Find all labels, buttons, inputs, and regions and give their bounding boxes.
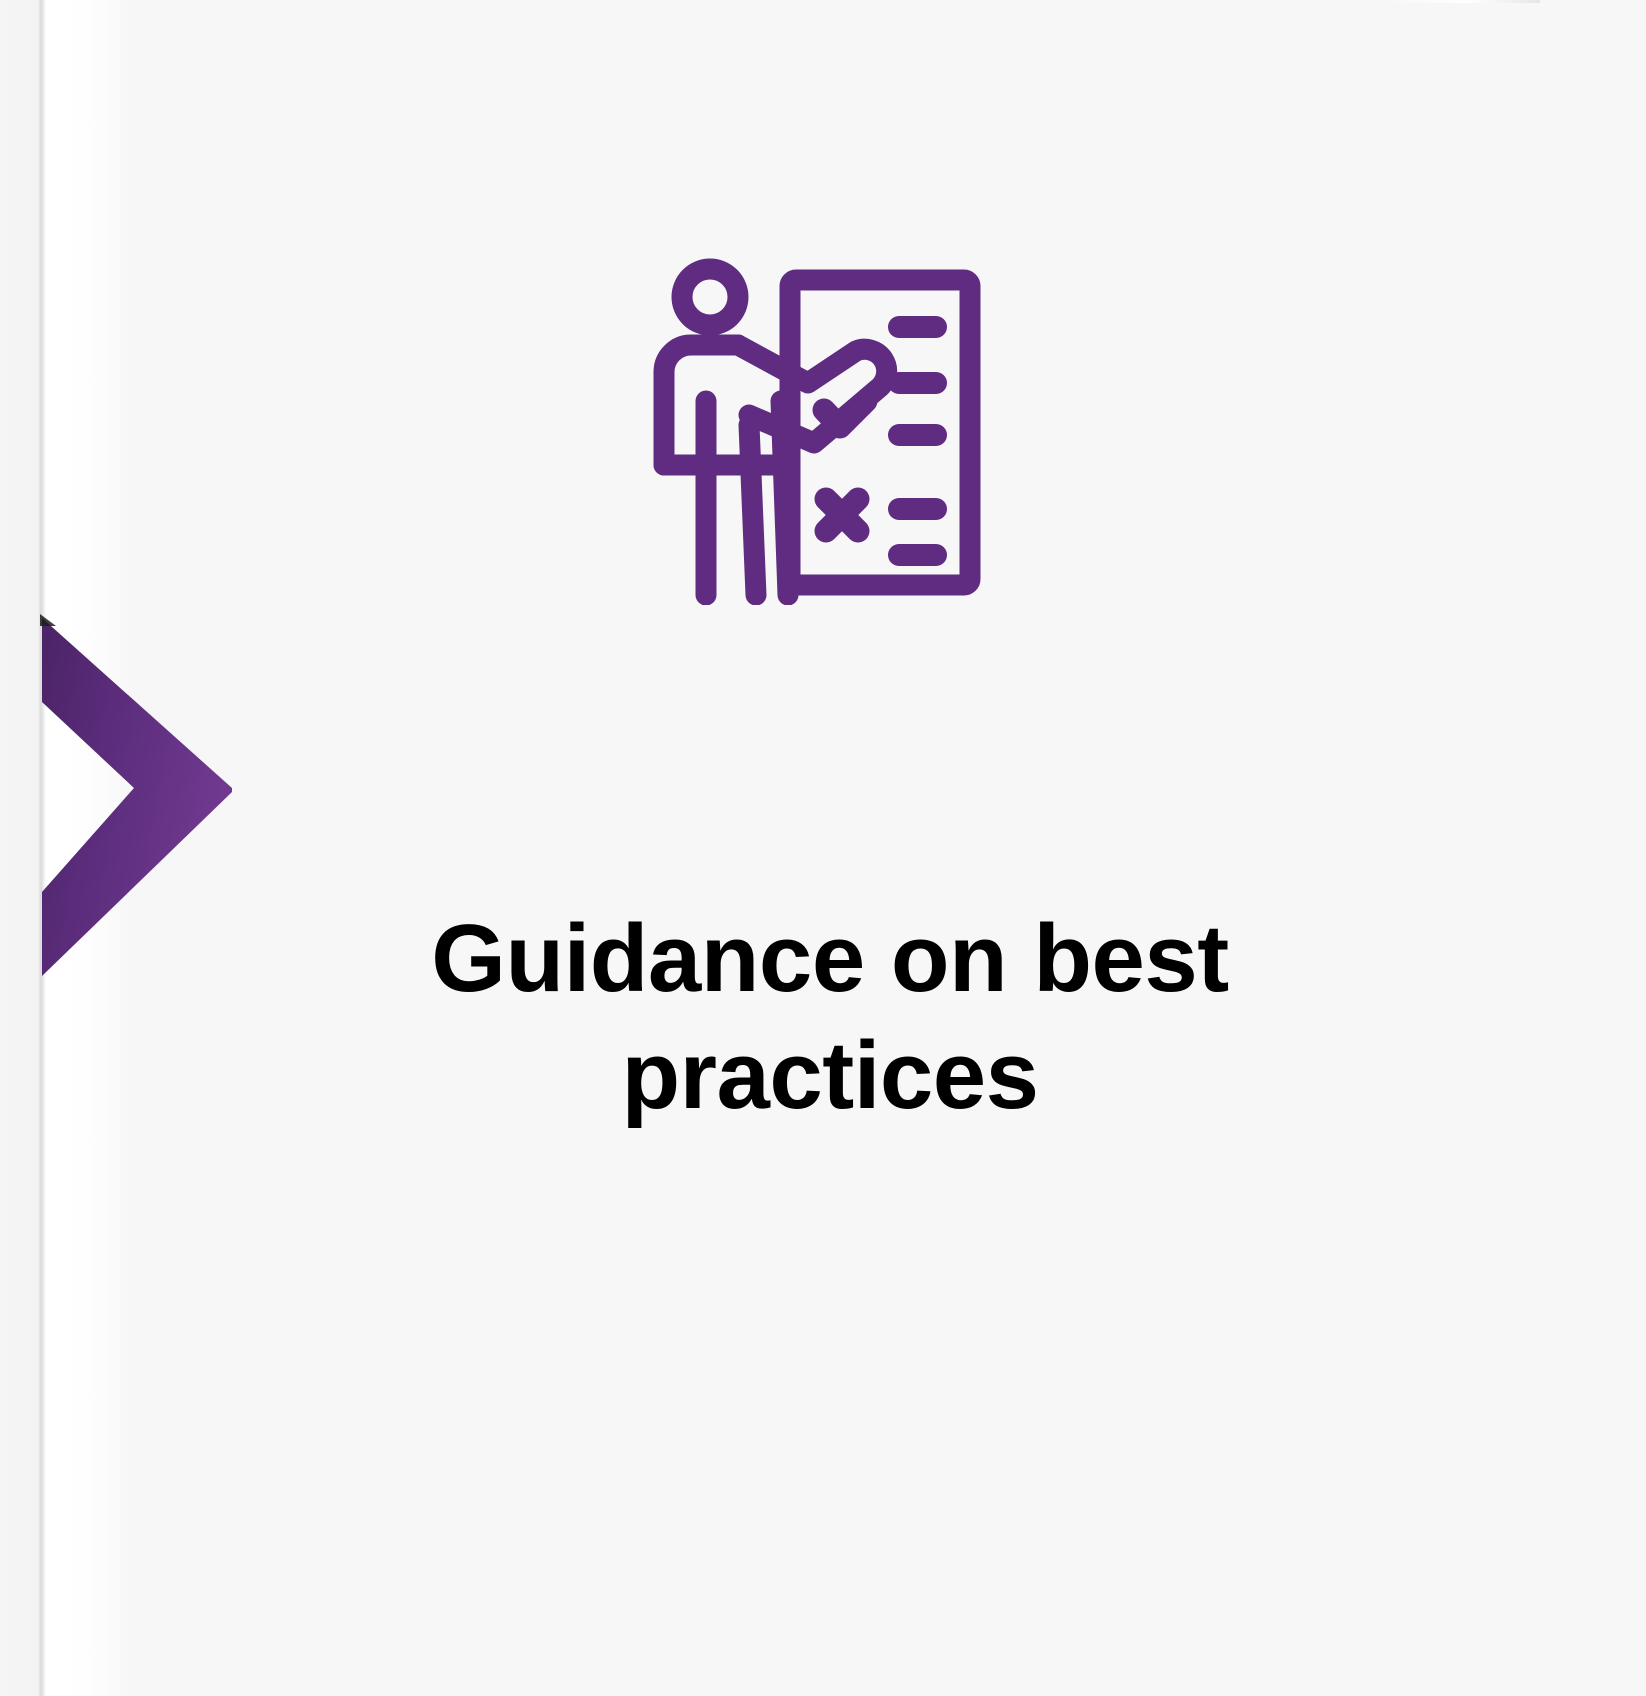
card-title-line-2: practices: [330, 1017, 1330, 1134]
person-leg-inner: [749, 425, 756, 595]
card-title: Guidance on best practices: [330, 900, 1330, 1134]
card-title-line-1: Guidance on best: [330, 900, 1330, 1017]
presenter-checklist-board-icon: [618, 255, 990, 605]
person-head: [682, 269, 738, 325]
chevron-right-decoration: [0, 596, 232, 976]
feature-card: Guidance on best practices: [0, 0, 1646, 1696]
top-edge-highlight: [1380, 0, 1540, 3]
x-mark-icon: [826, 499, 858, 531]
chevron-right-icon: [0, 596, 232, 976]
panel-edge-shadow: [0, 0, 130, 1696]
